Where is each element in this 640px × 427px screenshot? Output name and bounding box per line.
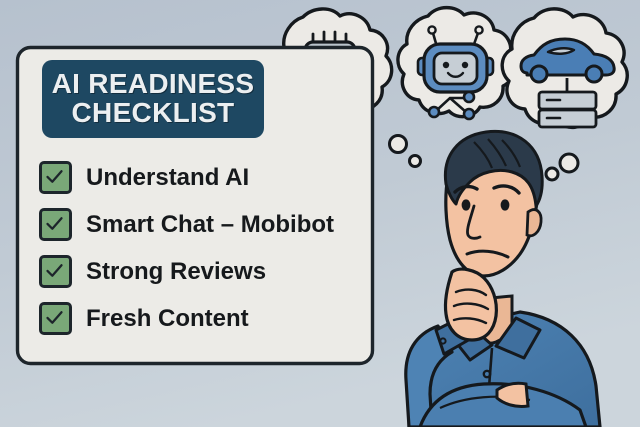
illustration-canvas: AI (0, 0, 640, 427)
thinking-man (375, 130, 640, 427)
thought-bubble-ai-chip (273, 14, 391, 138)
thought-bubble-car-data (500, 14, 630, 144)
thought-bubble-chatbot (396, 12, 512, 138)
